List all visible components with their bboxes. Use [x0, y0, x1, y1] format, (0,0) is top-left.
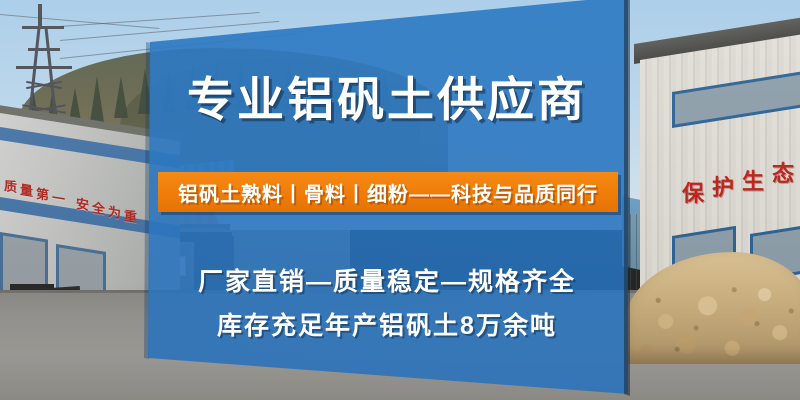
banner-content: 专业铝矾土供应商 铝矾土熟料丨骨料丨细粉——科技与品质同行 厂家直销—质量稳定—…: [0, 0, 800, 400]
subtitle-text: 铝矾土熟料丨骨料丨细粉——科技与品质同行: [178, 178, 598, 207]
orange-subtitle-bar: 铝矾土熟料丨骨料丨细粉——科技与品质同行: [158, 172, 618, 212]
tagline-primary: 厂家直销—质量稳定—规格齐全: [152, 262, 622, 298]
tagline-secondary: 库存充足年产铝矾土8万余吨: [152, 306, 622, 342]
headline: 专业铝矾土供应商: [152, 76, 622, 123]
bauxite-supplier-banner: 质 量 第 一 安 全 为 重 保 护 生 态: [0, 0, 800, 400]
